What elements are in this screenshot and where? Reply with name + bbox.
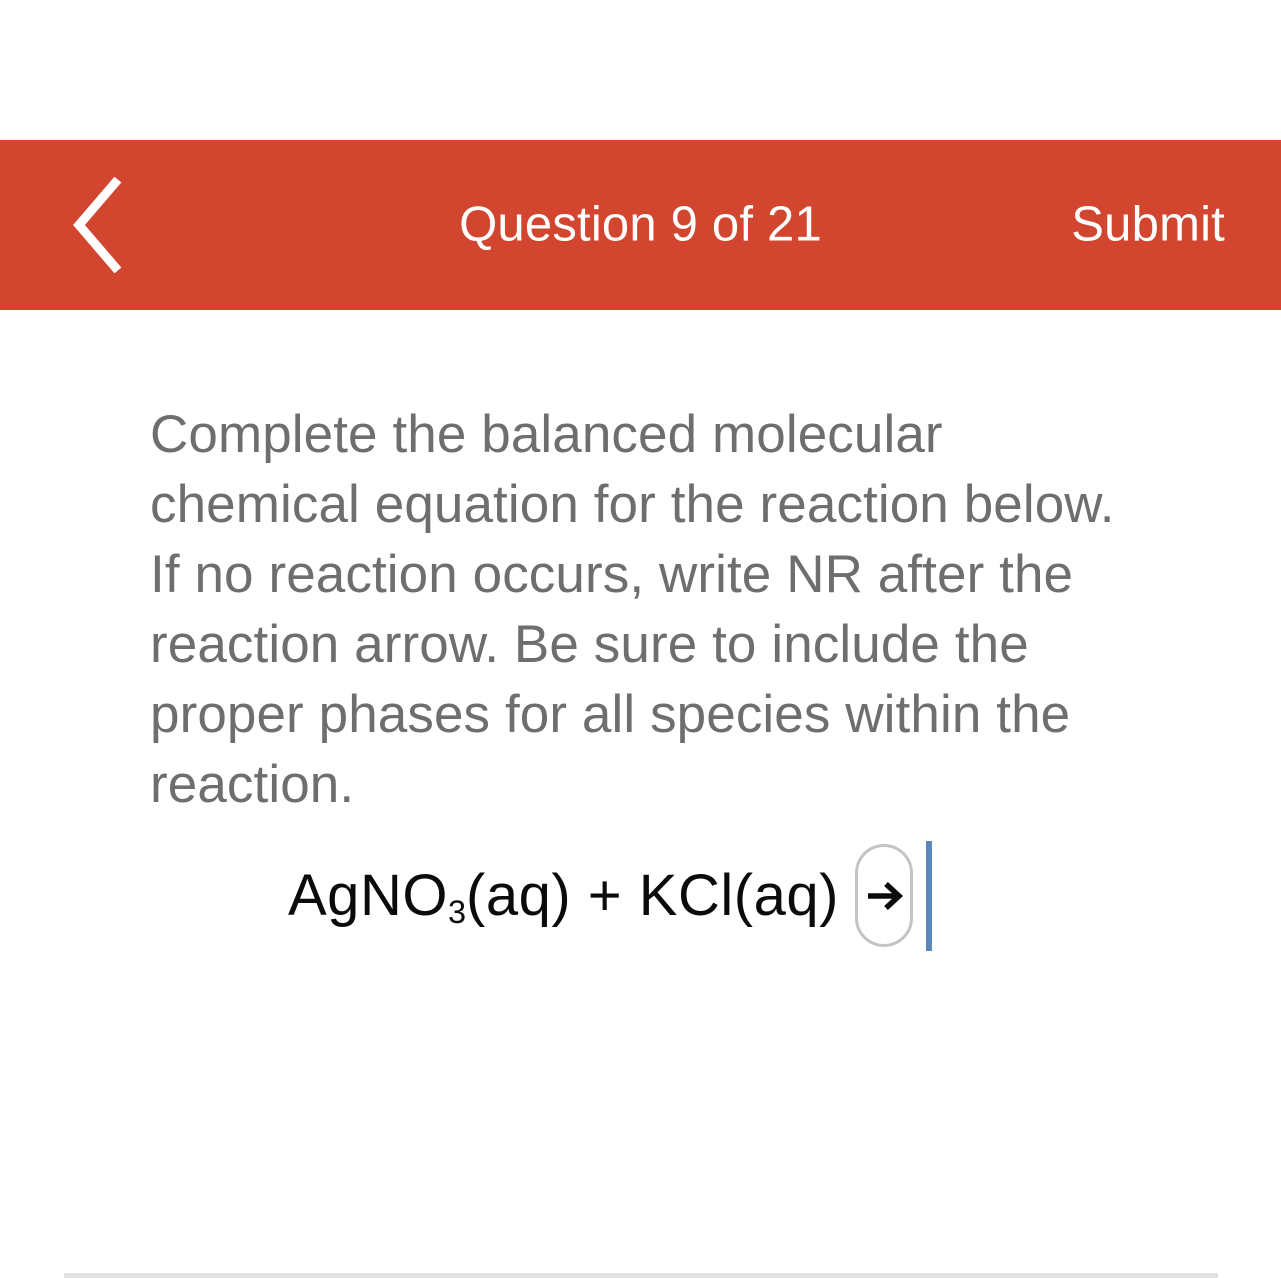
question-prompt: Complete the balanced molecular chemical…	[150, 400, 1135, 820]
reactant-one-subscript: 3	[448, 894, 466, 930]
right-arrow-icon	[862, 874, 906, 918]
answer-underline	[64, 1273, 1218, 1278]
plus-sign: +	[571, 863, 639, 928]
equation-reactants: AgNO3(aq) + KCl(aq)	[288, 867, 839, 925]
reactant-one-formula: AgNO	[288, 863, 448, 928]
submit-button[interactable]: Submit	[1071, 201, 1225, 250]
reactant-two-formula: KCl	[639, 863, 734, 928]
reaction-arrow-token[interactable]	[855, 844, 913, 947]
equation-row[interactable]: AgNO3(aq) + KCl(aq)	[288, 838, 932, 953]
back-button[interactable]	[52, 170, 142, 280]
answer-input-area[interactable]: AgNO3(aq) + KCl(aq)	[64, 838, 1218, 958]
text-cursor	[926, 841, 932, 951]
reactant-one-phase: (aq)	[466, 863, 571, 928]
reactant-two-phase: (aq)	[734, 863, 839, 928]
chevron-left-icon	[67, 177, 127, 273]
top-navigation-bar: Question 9 of 21 Submit	[0, 140, 1281, 310]
